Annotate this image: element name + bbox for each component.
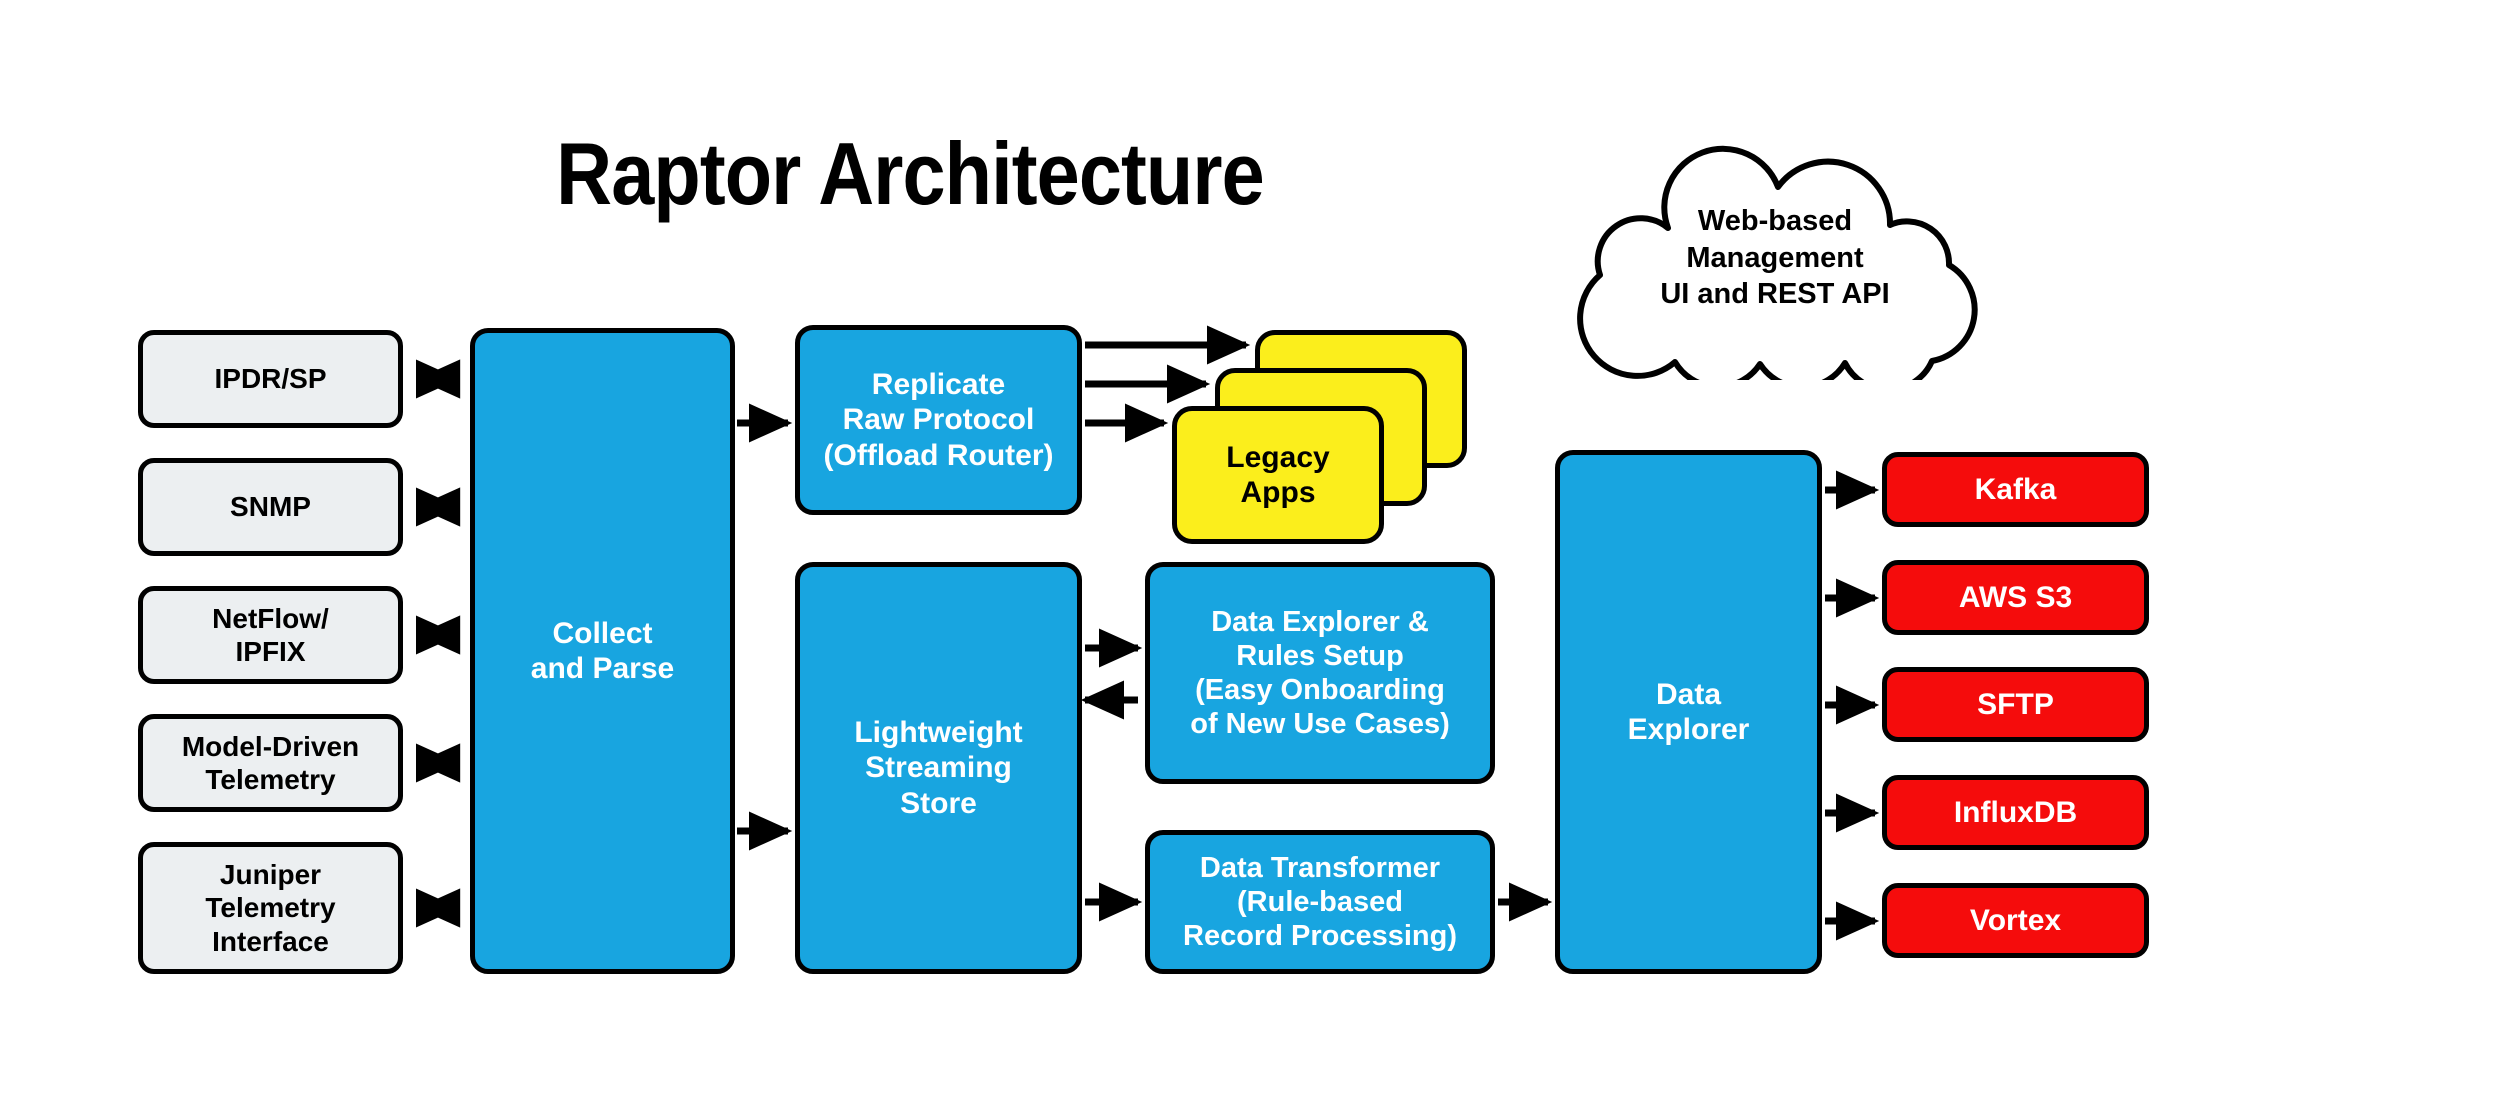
core-label: Collectand Parse [475, 616, 730, 687]
sink-box-aws-s3[interactable]: AWS S3 [1882, 560, 2149, 635]
core-box-replicate-raw-protocol[interactable]: ReplicateRaw Protocol(Offload Router) [795, 325, 1082, 515]
page-title: Raptor Architecture [514, 128, 1306, 220]
source-box-ipdr-sp[interactable]: IPDR/SP [138, 330, 403, 428]
cloud-label: Web-basedManagementUI and REST API [1540, 203, 2010, 313]
legacy-apps-label: LegacyApps [1177, 440, 1379, 511]
sink-label: AWS S3 [1887, 580, 2144, 615]
sink-box-kafka[interactable]: Kafka [1882, 452, 2149, 527]
core-box-lightweight-streaming-store[interactable]: LightweightStreamingStore [795, 562, 1082, 974]
core-label: ReplicateRaw Protocol(Offload Router) [800, 367, 1077, 473]
source-label: Model-DrivenTelemetry [143, 730, 398, 796]
core-box-collect-and-parse[interactable]: Collectand Parse [470, 328, 735, 974]
sink-label: Vortex [1887, 903, 2144, 938]
source-box-model-driven-telemetry[interactable]: Model-DrivenTelemetry [138, 714, 403, 812]
source-label: JuniperTelemetryInterface [143, 858, 398, 957]
source-label: IPDR/SP [143, 362, 398, 395]
source-box-netflow-ipfix[interactable]: NetFlow/IPFIX [138, 586, 403, 684]
core-label: Data Explorer &Rules Setup(Easy Onboardi… [1150, 605, 1490, 742]
sink-box-vortex[interactable]: Vortex [1882, 883, 2149, 958]
cloud-management[interactable]: Web-basedManagementUI and REST API [1540, 135, 2010, 380]
sink-box-sftp[interactable]: SFTP [1882, 667, 2149, 742]
core-label: LightweightStreamingStore [800, 715, 1077, 821]
source-label: NetFlow/IPFIX [143, 602, 398, 668]
source-label: SNMP [143, 490, 398, 523]
core-label: DataExplorer [1560, 677, 1817, 748]
sink-box-influxdb[interactable]: InfluxDB [1882, 775, 2149, 850]
diagram-canvas: Raptor Architecture IPDR/SP SNMP NetFlow… [0, 0, 2500, 1109]
sink-label: Kafka [1887, 472, 2144, 507]
core-label: Data Transformer(Rule-basedRecord Proces… [1150, 851, 1490, 954]
source-box-juniper-telemetry-interface[interactable]: JuniperTelemetryInterface [138, 842, 403, 974]
core-box-data-explorer-rules-setup[interactable]: Data Explorer &Rules Setup(Easy Onboardi… [1145, 562, 1495, 784]
sink-label: SFTP [1887, 687, 2144, 722]
legacy-apps-card-front[interactable]: LegacyApps [1172, 406, 1384, 544]
source-box-snmp[interactable]: SNMP [138, 458, 403, 556]
sink-label: InfluxDB [1887, 795, 2144, 830]
core-box-data-explorer[interactable]: DataExplorer [1555, 450, 1822, 974]
core-box-data-transformer[interactable]: Data Transformer(Rule-basedRecord Proces… [1145, 830, 1495, 974]
